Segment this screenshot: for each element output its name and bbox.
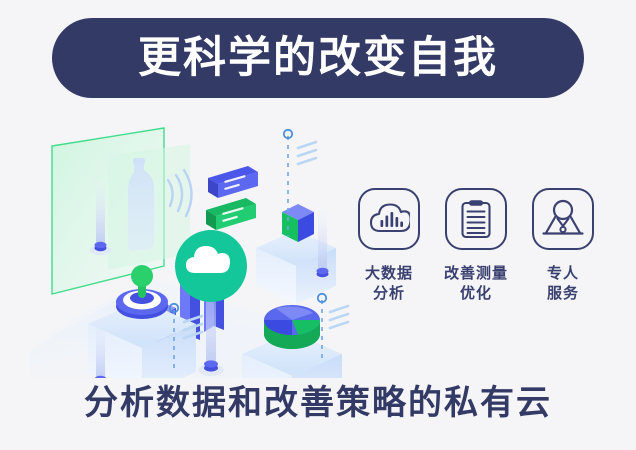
support-agent-icon <box>542 199 584 239</box>
tag-chip-blue <box>208 166 258 198</box>
header-banner: 更科学的改变自我 <box>52 18 584 98</box>
feature-list: 大数据 分析 <box>352 188 600 304</box>
feature-icon-frame <box>358 188 420 250</box>
dashed-marker-bottom-right <box>318 294 348 358</box>
poster-canvas: 更科学的改变自我 <box>0 0 636 450</box>
pie-chart-3d <box>264 305 320 349</box>
footer-tagline: 分析数据和改善策略的私有云 <box>0 383 636 424</box>
isometric-data-platform-illustration <box>30 118 360 378</box>
tag-chip-green <box>206 198 256 230</box>
feature-improvement-measurement[interactable]: 改善测量 优化 <box>439 188 513 304</box>
green-glass-panel <box>52 128 192 294</box>
feature-icon-frame <box>532 188 594 250</box>
feature-label: 改善测量 优化 <box>444 263 508 304</box>
cloud-bar-chart-icon <box>368 203 410 235</box>
clipboard-icon <box>460 199 492 239</box>
feature-icon-frame <box>445 188 507 250</box>
feature-big-data-analysis[interactable]: 大数据 分析 <box>352 188 426 304</box>
feature-label: 专人 服务 <box>547 263 579 304</box>
feature-label: 大数据 分析 <box>365 263 413 304</box>
cube-3d <box>282 204 314 242</box>
page-title: 更科学的改变自我 <box>138 37 498 80</box>
feature-dedicated-service[interactable]: 专人 服务 <box>526 188 600 304</box>
